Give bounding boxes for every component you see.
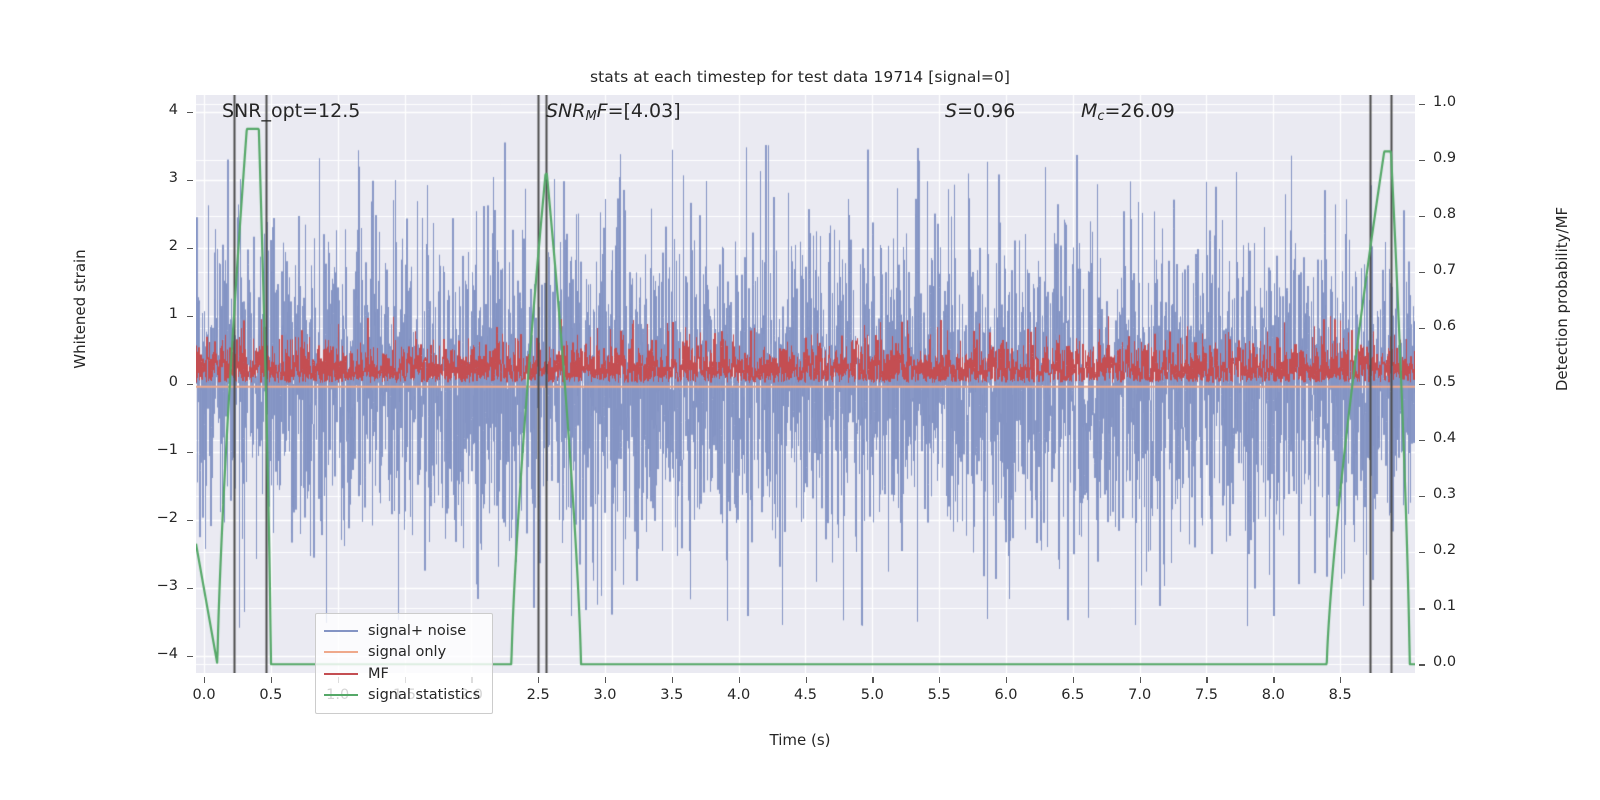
annotation-snr-opt: SNR_opt=12.5 [222,100,360,122]
y-tick-left-label: 3 [118,170,178,186]
legend-swatch-icon [324,673,358,675]
x-tick-mark [1340,677,1341,683]
y-tick-left-mark [187,452,193,453]
x-tick-mark [806,677,807,683]
y-tick-left-mark [187,384,193,385]
y-tick-left-label: 1 [118,306,178,322]
y-tick-left-label: −2 [118,510,178,526]
y-tick-left-mark [187,520,193,521]
legend-item[interactable]: signal only [324,642,484,664]
y-tick-right-mark [1419,664,1425,665]
legend-swatch-icon [324,630,358,632]
x-tick-label: 4.5 [771,687,841,703]
y-tick-left-label: 2 [118,238,178,254]
x-tick-label: 7.5 [1171,687,1241,703]
x-tick-mark [1273,677,1274,683]
x-tick-mark [271,677,272,683]
x-tick-label: 0.5 [236,687,306,703]
x-tick-label: 7.0 [1105,687,1175,703]
y-tick-right-label: 0.6 [1433,318,1503,334]
y-axis-right-label: Detection probability/MF [1553,129,1571,469]
annotation-chirp-mass: Mc=26.09 [1081,100,1175,124]
y-tick-left-label: −4 [118,646,178,662]
y-tick-right-label: 0.0 [1433,654,1503,670]
y-tick-right-label: 0.7 [1433,262,1503,278]
x-tick-mark [1006,677,1007,683]
legend-item[interactable]: MF [324,663,484,685]
y-tick-left-label: 4 [118,102,178,118]
annotation-snr-mf: SNRMF=[4.03] [546,100,681,124]
x-tick-mark [672,677,673,683]
x-tick-label: 4.0 [704,687,774,703]
y-tick-left-label: 0 [118,374,178,390]
x-tick-mark [538,677,539,683]
x-tick-mark [872,677,873,683]
legend-label: signal statistics [368,687,480,703]
x-tick-label: 8.0 [1238,687,1308,703]
y-tick-right-label: 1.0 [1433,94,1503,110]
x-tick-mark [1073,677,1074,683]
chart-legend[interactable]: signal+ noisesignal onlyMFsignal statist… [315,613,493,714]
y-tick-right-mark [1419,608,1425,609]
x-tick-mark [739,677,740,683]
y-tick-right-label: 0.9 [1433,150,1503,166]
y-axis-left-label: Whitened strain [71,189,89,429]
y-tick-right-label: 0.3 [1433,486,1503,502]
x-axis-label: Time (s) [0,731,1600,749]
y-tick-right-mark [1419,552,1425,553]
y-tick-right-label: 0.4 [1433,430,1503,446]
plot-canvas [196,95,1415,673]
x-tick-label: 2.5 [503,687,573,703]
y-tick-left-mark [187,248,193,249]
y-tick-right-mark [1419,216,1425,217]
y-tick-right-mark [1419,440,1425,441]
x-tick-label: 6.0 [971,687,1041,703]
x-tick-mark [605,677,606,683]
y-tick-right-mark [1419,272,1425,273]
legend-label: MF [368,666,389,682]
y-tick-right-mark [1419,104,1425,105]
x-tick-mark [1140,677,1141,683]
legend-swatch-icon [324,694,358,696]
x-tick-mark [1206,677,1207,683]
chart-root: stats at each timestep for test data 197… [0,0,1600,800]
y-tick-left-mark [187,588,193,589]
y-tick-right-label: 0.8 [1433,206,1503,222]
y-tick-left-label: −3 [118,578,178,594]
legend-swatch-icon [324,651,358,653]
plot-area [196,95,1415,673]
y-tick-right-label: 0.5 [1433,374,1503,390]
y-tick-left-mark [187,112,193,113]
y-tick-right-mark [1419,496,1425,497]
y-tick-left-mark [187,656,193,657]
x-tick-label: 5.0 [837,687,907,703]
y-tick-right-mark [1419,384,1425,385]
chart-title: stats at each timestep for test data 197… [0,68,1600,86]
annotation-s-stat: S=0.96 [945,100,1015,122]
y-tick-left-mark [187,316,193,317]
y-tick-right-mark [1419,160,1425,161]
x-tick-label: 0.0 [169,687,239,703]
y-tick-right-mark [1419,328,1425,329]
legend-label: signal+ noise [368,623,466,639]
x-tick-mark [939,677,940,683]
y-tick-left-label: −1 [118,442,178,458]
x-tick-label: 5.5 [904,687,974,703]
y-tick-right-label: 0.2 [1433,542,1503,558]
x-tick-label: 3.0 [570,687,640,703]
y-tick-right-label: 0.1 [1433,598,1503,614]
legend-item[interactable]: signal+ noise [324,620,484,642]
x-tick-label: 8.5 [1305,687,1375,703]
x-tick-label: 3.5 [637,687,707,703]
legend-label: signal only [368,644,446,660]
x-tick-mark [204,677,205,683]
x-tick-label: 6.5 [1038,687,1108,703]
legend-item[interactable]: signal statistics [324,685,484,707]
y-tick-left-mark [187,180,193,181]
